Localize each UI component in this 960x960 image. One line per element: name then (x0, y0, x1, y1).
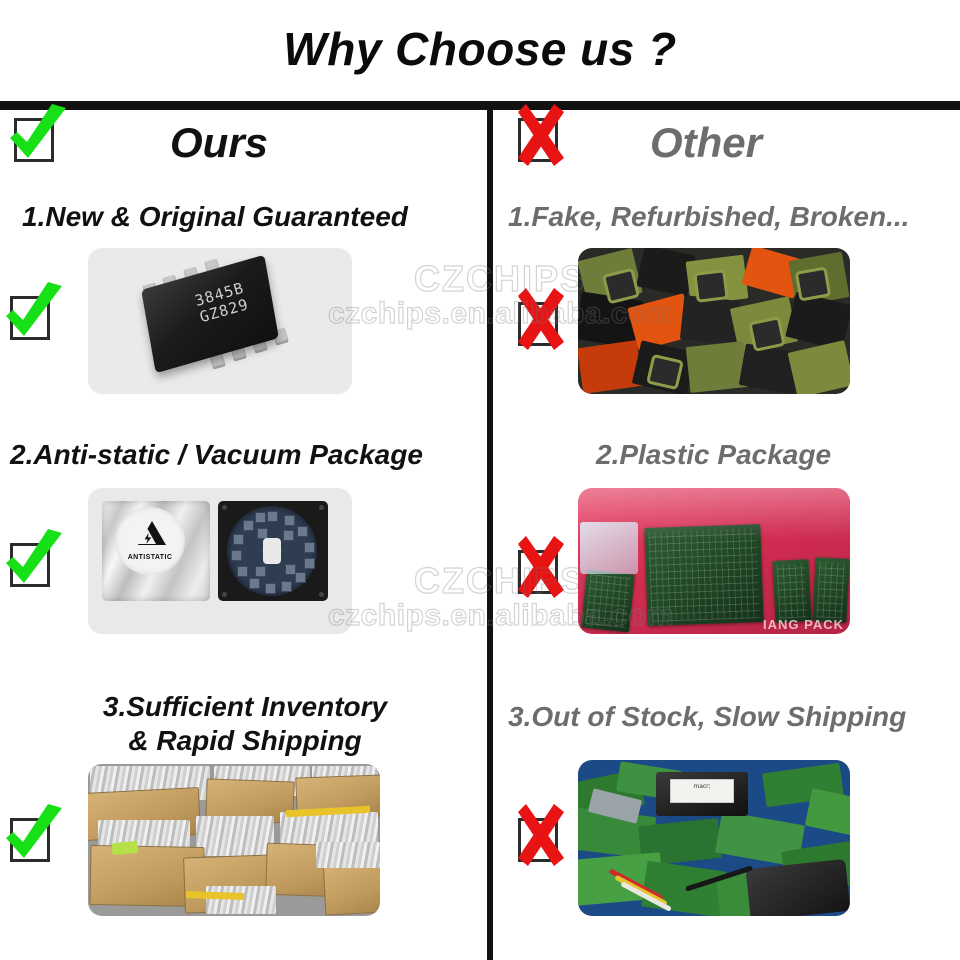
ours-item-2-check-icon (4, 537, 56, 589)
antistatic-text: ANTISTATIC (115, 554, 185, 561)
cross-glyph (508, 802, 574, 872)
column-header-other: Other (650, 112, 762, 174)
black-module: macr; (656, 772, 748, 816)
pcb-small-right (812, 557, 849, 623)
header-divider (0, 101, 960, 110)
other-item-1-cross-icon (512, 296, 564, 348)
page-title: Why Choose us ? (0, 22, 960, 76)
black-panel (746, 859, 850, 916)
scrap-board-pile: macr; (578, 760, 850, 916)
other-photo-scrap-chips (578, 248, 850, 394)
other-photo-scrap-boards: macr; (578, 760, 850, 916)
infographic-page: Why Choose us ? Ours Other 1.New & Origi… (0, 0, 960, 960)
other-item-3-text: 3.Out of Stock, Slow Shipping (508, 700, 958, 734)
cross-glyph (508, 286, 574, 356)
ours-photo-inventory-boxes (88, 764, 380, 916)
ours-photo-chip: 3845B GZ829 (88, 248, 352, 394)
component-reel (227, 506, 317, 596)
check-glyph (0, 802, 66, 872)
ours-item-3-text: 3.Sufficient Inventory & Rapid Shipping (40, 690, 450, 758)
other-item-1-text: 1.Fake, Refurbished, Broken... (508, 200, 958, 234)
cross-glyph (508, 534, 574, 604)
scrap-chip-pile (578, 248, 850, 394)
column-header-ours: Ours (170, 112, 268, 174)
other-item-3-cross-icon (512, 812, 564, 864)
bag-clear-patch (580, 522, 638, 574)
chip-stage: 3845B GZ829 (88, 248, 352, 394)
box-pile (88, 764, 380, 916)
antistatic-stage: ANTISTATIC (88, 488, 352, 634)
reel-hub (263, 538, 281, 564)
ours-header-check-icon (8, 112, 60, 164)
cross-glyph (508, 102, 574, 172)
ours-item-1-text: 1.New & Original Guaranteed (22, 200, 472, 234)
check-glyph (4, 102, 70, 172)
other-photo-plastic-package: IANG PACK (578, 488, 850, 634)
other-item-2-cross-icon (512, 544, 564, 596)
module-label: macr; (670, 779, 734, 803)
ours-item-3-check-icon (4, 812, 56, 864)
pcb-small-mid (772, 559, 811, 623)
pack-watermark-text: IANG PACK (763, 617, 844, 632)
ours-item-1-check-icon (4, 290, 56, 342)
other-item-2-text: 2.Plastic Package (596, 438, 956, 472)
check-glyph (0, 280, 66, 350)
pcb-small-left (581, 570, 635, 633)
ours-photo-antistatic: ANTISTATIC (88, 488, 352, 634)
plastic-bag: IANG PACK (578, 488, 850, 634)
other-header-cross-icon (512, 112, 564, 164)
check-glyph (0, 527, 66, 597)
reel-box (218, 501, 328, 601)
column-divider (487, 110, 493, 960)
ours-item-2-text: 2.Anti-static / Vacuum Package (10, 438, 480, 472)
